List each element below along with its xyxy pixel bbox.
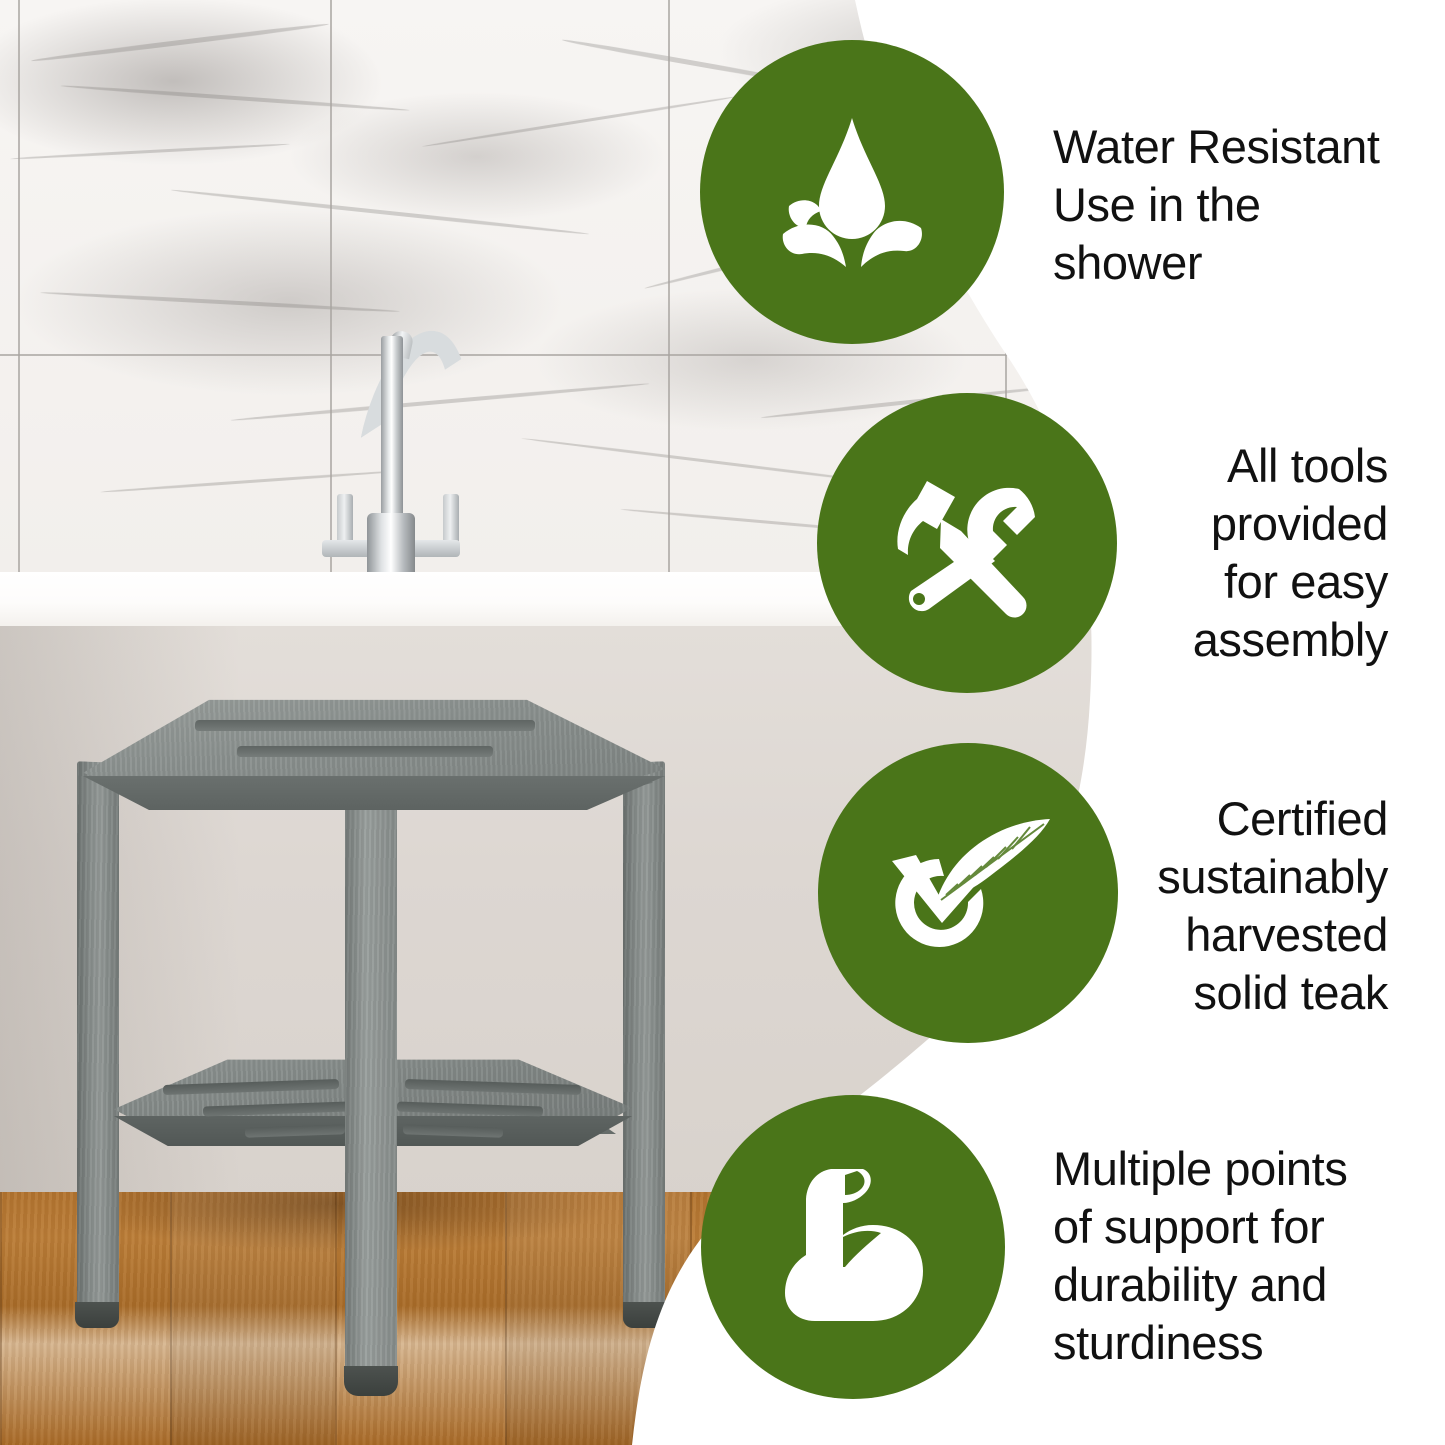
stool-leg-right	[623, 761, 665, 1323]
feature-all-tools-provided-text: All tools provided for easy assembly	[1010, 437, 1388, 669]
product-infographic: Water Resistant Use in the shower	[0, 0, 1445, 1445]
water-resistant-circle	[700, 40, 1004, 344]
feature-certified-sustainable-teak-text: Certified sustainably harvested solid te…	[1010, 790, 1388, 1022]
faucet-handle-left-knob	[337, 494, 353, 546]
stool-foot-center	[344, 1366, 398, 1396]
stool-leg-center	[345, 786, 397, 1384]
multiple-support-circle	[701, 1095, 1005, 1399]
seat-groove	[237, 746, 494, 757]
teak-corner-shower-stool	[45, 690, 685, 1410]
water-drop-icon	[767, 110, 937, 275]
stool-foot-right	[623, 1302, 667, 1328]
tile-grout-line	[668, 0, 670, 580]
feature-multiple-support-points-text: Multiple points of support for durabilit…	[1053, 1140, 1445, 1372]
tile-grout-line	[18, 0, 20, 580]
stool-seat-edge	[71, 776, 671, 810]
seat-groove	[195, 720, 536, 731]
feature-water-resistant-text: Water Resistant Use in the shower	[1053, 118, 1425, 292]
tile-grout-line	[330, 0, 332, 580]
flexed-bicep-icon	[773, 1163, 933, 1331]
stool-foot-left	[75, 1302, 119, 1328]
stool-leg-left	[77, 761, 119, 1323]
faucet-handle-right-knob	[443, 494, 459, 546]
tile-grout-line	[0, 354, 1445, 356]
